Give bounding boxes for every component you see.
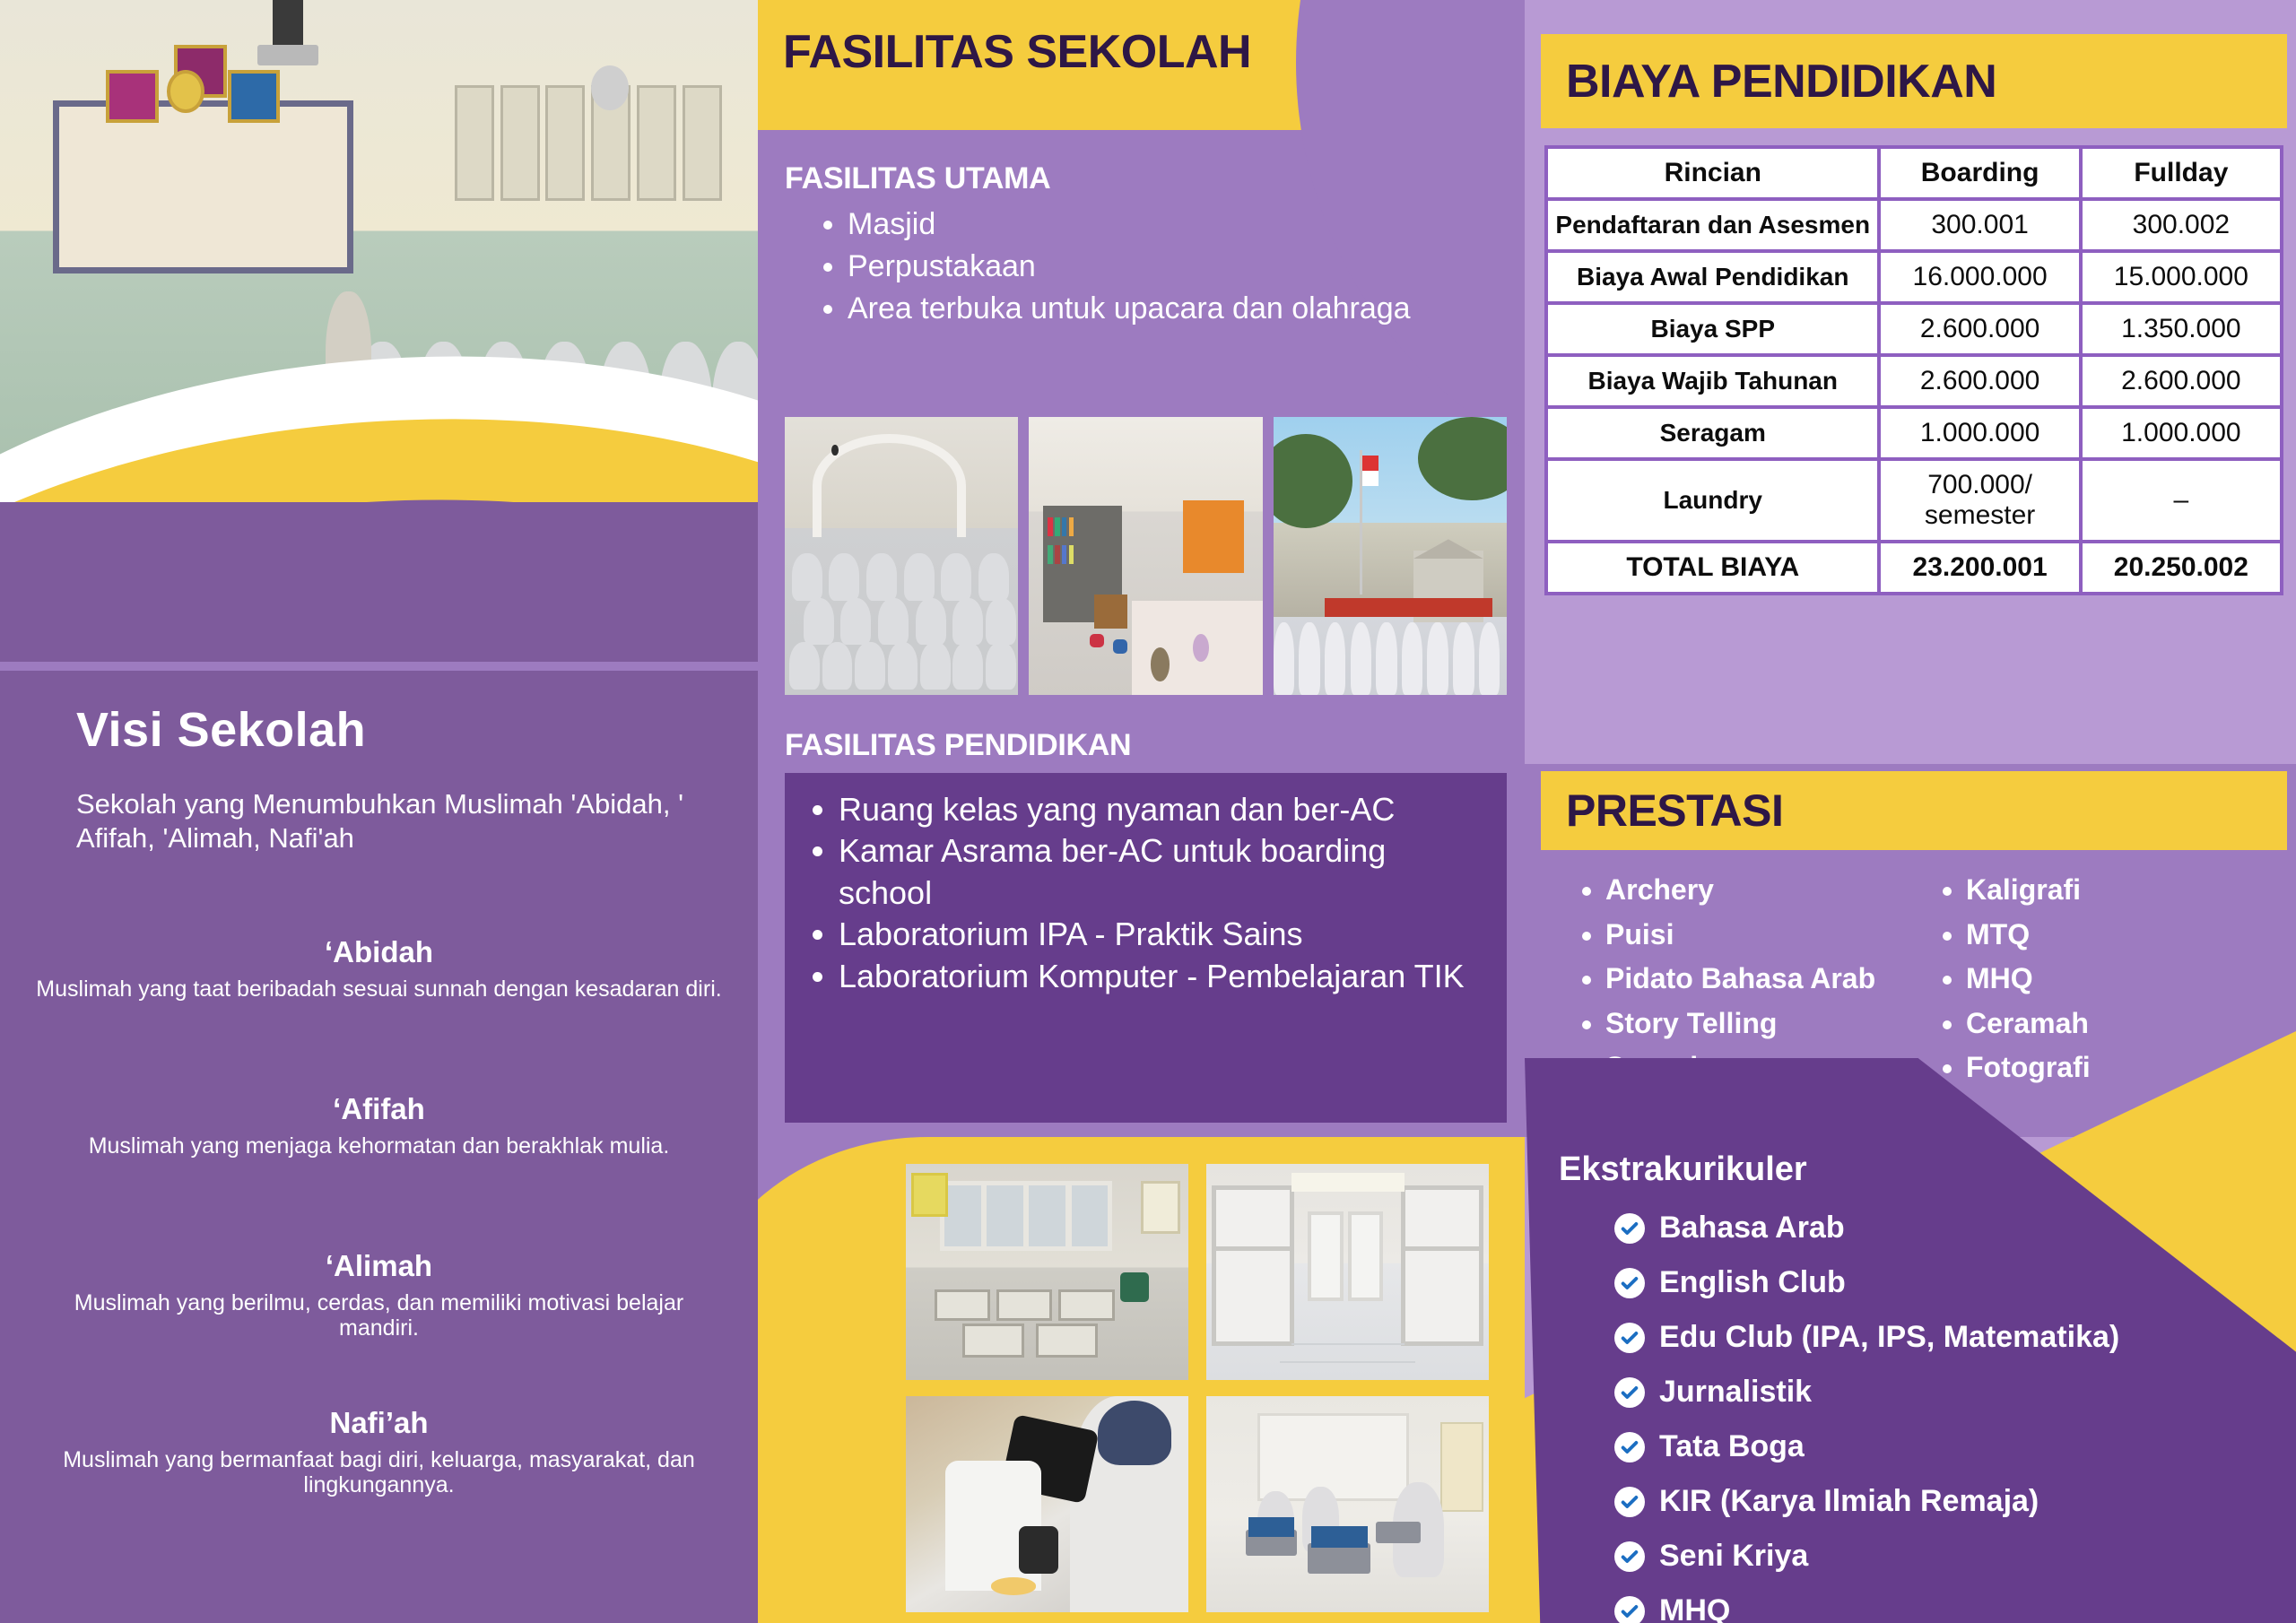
row-fullday: –: [2081, 459, 2282, 542]
ruang-kelas-photo: [906, 1164, 1188, 1380]
row-boarding: 2.600.000: [1879, 355, 2080, 407]
check-circle-icon: [1614, 1432, 1645, 1462]
list-item: MHQ: [1614, 1593, 2296, 1623]
virtue-desc: Muslimah yang menjaga kehormatan dan ber…: [36, 1133, 722, 1159]
row-boarding: 700.000/ semester: [1879, 459, 2080, 542]
projector-mount: [273, 0, 303, 45]
prestasi-list-2: Kaligrafi MTQ MHQ Ceramah Fotografi: [1928, 868, 2091, 1090]
list-item: Ruang kelas yang nyaman dan ber-AC: [839, 789, 1485, 830]
rug-flower: [1151, 647, 1170, 681]
list-item: MTQ: [1966, 913, 2091, 958]
table-header-row: Rincian Boarding Fullday: [1546, 147, 2282, 199]
virtue-desc: Muslimah yang bermanfaat bagi diri, kelu…: [36, 1447, 722, 1497]
ekskul-label: Tata Boga: [1659, 1429, 1805, 1464]
row-fullday: 1.000.000: [2081, 407, 2282, 459]
chair: [1120, 1272, 1149, 1303]
fasilitas-pendidikan-photo-grid: [906, 1164, 1489, 1612]
column-header-fullday: Fullday: [2081, 147, 2282, 199]
upacara-lapangan-photo: [1274, 417, 1507, 695]
virtue-alimah: ‘Alimah Muslimah yang berilmu, cerdas, d…: [36, 1249, 722, 1341]
biaya-pendidikan-title: BIAYA PENDIDIKAN: [1566, 55, 1996, 108]
total-fullday: 20.250.002: [2081, 542, 2282, 594]
student-hijab: [1098, 1401, 1171, 1465]
table-row: Biaya Awal Pendidikan 16.000.000 15.000.…: [1546, 251, 2282, 303]
visi-title: Visi Sekolah: [76, 702, 366, 758]
list-item: Pidato Bahasa Arab: [1605, 957, 1875, 1002]
ekskul-label: MHQ: [1659, 1593, 1730, 1623]
row-label: Biaya SPP: [1546, 303, 1879, 355]
ekskul-label: Jurnalistik: [1659, 1375, 1812, 1410]
check-circle-icon: [1614, 1323, 1645, 1353]
virtue-desc: Muslimah yang taat beribadah sesuai sunn…: [36, 976, 722, 1002]
table-row: Seragam 1.000.000 1.000.000: [1546, 407, 2282, 459]
list-item: Edu Club (IPA, IPS, Matematika): [1614, 1320, 2296, 1355]
list-item: Puisi: [1605, 913, 1875, 958]
list-item: Laboratorium Komputer - Pembelajaran TIK: [839, 956, 1485, 997]
column-header-boarding: Boarding: [1879, 147, 2080, 199]
check-circle-icon: [1614, 1268, 1645, 1298]
ceiling-light: [1291, 1173, 1405, 1193]
wall-chart: [1141, 1181, 1180, 1234]
prestasi-column-2: Kaligrafi MTQ MHQ Ceramah Fotografi: [1928, 868, 2091, 1090]
ekskul-label: KIR (Karya Ilmiah Remaja): [1659, 1484, 2039, 1519]
check-circle-icon: [1614, 1213, 1645, 1244]
virtue-nafiah: Nafi’ah Muslimah yang bermanfaat bagi di…: [36, 1406, 722, 1497]
wall-frame: [228, 70, 281, 122]
red-banner: [1325, 598, 1492, 618]
list-item: Bahasa Arab: [1614, 1211, 2296, 1245]
right-column: BIAYA PENDIDIKAN Rincian Boarding Fullda…: [1525, 0, 2296, 1623]
table-row: Biaya Wajib Tahunan 2.600.000 2.600.000: [1546, 355, 2282, 407]
list-item: English Club: [1614, 1265, 2296, 1300]
ceiling-fan: [831, 445, 839, 456]
column-header-rincian: Rincian: [1546, 147, 1879, 199]
total-label: TOTAL BIAYA: [1546, 542, 1879, 594]
virtue-abidah: ‘Abidah Muslimah yang taat beribadah ses…: [36, 935, 722, 1002]
fasilitas-pendidikan-box: Ruang kelas yang nyaman dan ber-AC Kamar…: [785, 773, 1507, 1123]
table-row: Biaya SPP 2.600.000 1.350.000: [1546, 303, 2282, 355]
whiteboard: [53, 100, 353, 273]
wall-poster: [1440, 1422, 1483, 1512]
fasilitas-utama-list: Masjid Perpustakaan Area terbuka untuk u…: [807, 204, 1525, 332]
microscope-light: [991, 1577, 1036, 1594]
row-fullday: 2.600.000: [2081, 355, 2282, 407]
biaya-pendidikan-table: Rincian Boarding Fullday Pendaftaran dan…: [1544, 145, 2283, 595]
list-item: Kamar Asrama ber-AC untuk boarding schoo…: [839, 830, 1485, 914]
microscope-objective: [1019, 1526, 1058, 1574]
whiteboard: [1257, 1413, 1410, 1501]
ekstrakurikuler-title: Ekstrakurikuler: [1559, 1150, 1807, 1189]
indonesian-flag: [1362, 456, 1378, 486]
list-item: KIR (Karya Ilmiah Remaja): [1614, 1484, 2296, 1519]
masjid-photo: [785, 417, 1018, 695]
reading-corner-wall: [1183, 500, 1244, 573]
rug-flower: [1193, 634, 1209, 662]
virtue-name: Nafi’ah: [36, 1406, 722, 1440]
fasilitas-pendidikan-list: Ruang kelas yang nyaman dan ber-AC Kamar…: [785, 773, 1507, 997]
row-label: Laundry: [1546, 459, 1879, 542]
row-fullday: 1.350.000: [2081, 303, 2282, 355]
building-roof: [1413, 539, 1483, 559]
locker: [1348, 1211, 1384, 1301]
check-circle-icon: [1614, 1377, 1645, 1408]
list-item: Laboratorium IPA - Praktik Sains: [839, 914, 1485, 955]
laboratorium-ipa-photo: [906, 1396, 1188, 1612]
prestasi-title: PRESTASI: [1566, 785, 1783, 837]
wall-poster: [911, 1173, 948, 1217]
virtue-afifah: ‘Afifah Muslimah yang menjaga kehormatan…: [36, 1092, 722, 1159]
ekskul-label: Edu Club (IPA, IPS, Matematika): [1659, 1320, 2119, 1355]
table-row: Pendaftaran dan Asesmen 300.001 300.002: [1546, 199, 2282, 251]
laboratorium-komputer-photo: [1206, 1396, 1489, 1612]
row-label: Biaya Wajib Tahunan: [1546, 355, 1879, 407]
total-boarding: 23.200.001: [1879, 542, 2080, 594]
left-divider: [0, 662, 758, 671]
list-item: Seni Kriya: [1614, 1539, 2296, 1574]
ekskul-label: Bahasa Arab: [1659, 1211, 1845, 1245]
visi-sekolah-section: Visi Sekolah Sekolah yang Menumbuhkan Mu…: [0, 671, 758, 1623]
virtue-name: ‘Alimah: [36, 1249, 722, 1283]
list-item: Area terbuka untuk upacara dan olahraga: [848, 289, 1525, 329]
fasilitas-sekolah-title: FASILITAS SEKOLAH: [783, 25, 1251, 79]
list-item: Masjid: [848, 204, 1525, 245]
fasilitas-pendidikan-heading: FASILITAS PENDIDIKAN: [785, 728, 1131, 763]
virtue-name: ‘Afifah: [36, 1092, 722, 1126]
kamar-asrama-photo: [1206, 1164, 1489, 1380]
check-circle-icon: [1614, 1487, 1645, 1517]
prestasi-header: PRESTASI: [1541, 771, 2287, 850]
row-boarding: 300.001: [1879, 199, 2080, 251]
projector: [257, 45, 318, 65]
row-boarding: 2.600.000: [1879, 303, 2080, 355]
table-row: Laundry 700.000/ semester –: [1546, 459, 2282, 542]
check-circle-icon: [1614, 1541, 1645, 1572]
fasilitas-utama-photo-row: [785, 417, 1507, 695]
row-fullday: 15.000.000: [2081, 251, 2282, 303]
list-item: Fotografi: [1966, 1046, 2091, 1090]
table-row-total: TOTAL BIAYA 23.200.001 20.250.002: [1546, 542, 2282, 594]
left-column: Visi Sekolah Sekolah yang Menumbuhkan Mu…: [0, 0, 758, 1623]
list-item: Kaligrafi: [1966, 868, 2091, 913]
row-boarding: 1.000.000: [1879, 407, 2080, 459]
wall-frame: [106, 70, 159, 122]
list-item: Jurnalistik: [1614, 1375, 2296, 1410]
row-fullday: 300.002: [2081, 199, 2282, 251]
row-label: Biaya Awal Pendidikan: [1546, 251, 1879, 303]
perpustakaan-photo: [1029, 417, 1262, 695]
row-label: Pendaftaran dan Asesmen: [1546, 199, 1879, 251]
list-item: Ceramah: [1966, 1002, 2091, 1046]
classroom-photo: [0, 0, 758, 502]
list-item: MHQ: [1966, 957, 2091, 1002]
fasilitas-utama-heading: FASILITAS UTAMA: [785, 161, 1050, 196]
row-boarding: 16.000.000: [1879, 251, 2080, 303]
wall-medallion: [167, 70, 204, 112]
locker: [1308, 1211, 1344, 1301]
virtue-desc: Muslimah yang berilmu, cerdas, dan memil…: [36, 1290, 722, 1341]
middle-column: FASILITAS SEKOLAH FASILITAS UTAMA Masjid…: [758, 0, 1525, 1623]
virtue-name: ‘Abidah: [36, 935, 722, 969]
biaya-header: BIAYA PENDIDIKAN: [1541, 34, 2287, 128]
list-item: Story Telling: [1605, 1002, 1875, 1046]
list-item: Archery: [1605, 868, 1875, 913]
ekstrakurikuler-list: Bahasa Arab English Club Edu Club (IPA, …: [1614, 1211, 2296, 1623]
low-table: [1094, 595, 1126, 628]
list-item: Perpustakaan: [848, 247, 1525, 287]
prestasi-list-1: Archery Puisi Pidato Bahasa Arab Story T…: [1568, 868, 1875, 1090]
check-circle-icon: [1614, 1596, 1645, 1623]
prestasi-column-1: Archery Puisi Pidato Bahasa Arab Story T…: [1568, 868, 1875, 1090]
school-brochure: Visi Sekolah Sekolah yang Menumbuhkan Mu…: [0, 0, 2296, 1623]
visi-statement: Sekolah yang Menumbuhkan Muslimah 'Abida…: [76, 787, 695, 855]
ekskul-label: English Club: [1659, 1265, 1846, 1300]
list-item: Tata Boga: [1614, 1429, 2296, 1464]
ekskul-label: Seni Kriya: [1659, 1539, 1808, 1574]
row-label: Seragam: [1546, 407, 1879, 459]
